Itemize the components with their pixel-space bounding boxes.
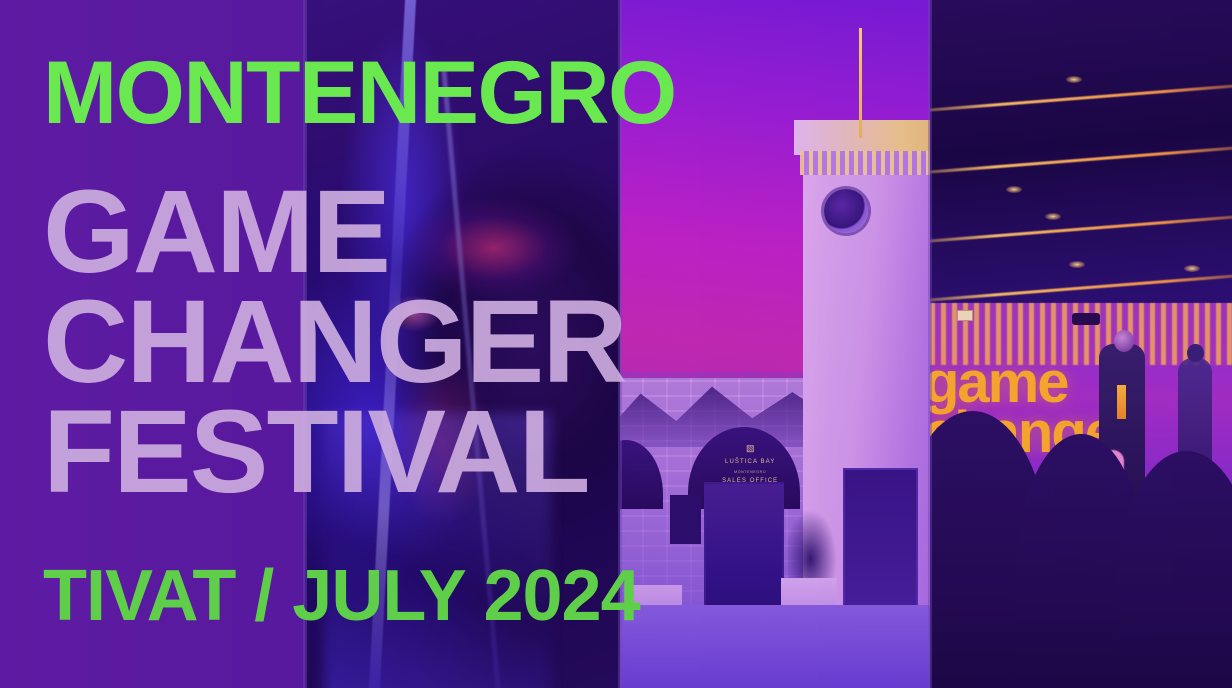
ceiling-spotlight <box>1006 186 1022 193</box>
ceiling-spotlight <box>1066 76 1082 83</box>
panel-flat-purple <box>0 0 305 688</box>
tower-balustrade <box>800 151 930 174</box>
wall-plaque <box>670 495 701 543</box>
festival-poster: ▧ LUŠTICA BAY Montenegro SALES OFFICE <box>0 0 1232 688</box>
ceiling-spotlight <box>1184 265 1200 272</box>
paved-ground <box>620 605 930 688</box>
photo-strip-row: ▧ LUŠTICA BAY Montenegro SALES OFFICE <box>0 0 1232 688</box>
panel-portrait <box>305 0 620 688</box>
audience-silhouettes <box>930 399 1232 688</box>
projector <box>1072 313 1100 325</box>
exit-sign-icon <box>957 310 973 321</box>
panel-stage: game changer <box>930 0 1232 688</box>
panel-clocktower: ▧ LUŠTICA BAY Montenegro SALES OFFICE <box>620 0 930 688</box>
portrait-fabric-fold <box>324 413 551 688</box>
bystander-head <box>1187 344 1204 362</box>
shop-window <box>843 468 917 619</box>
clock-face-icon <box>824 189 868 233</box>
audience-head <box>1117 451 1232 688</box>
tower-mast <box>859 28 862 138</box>
